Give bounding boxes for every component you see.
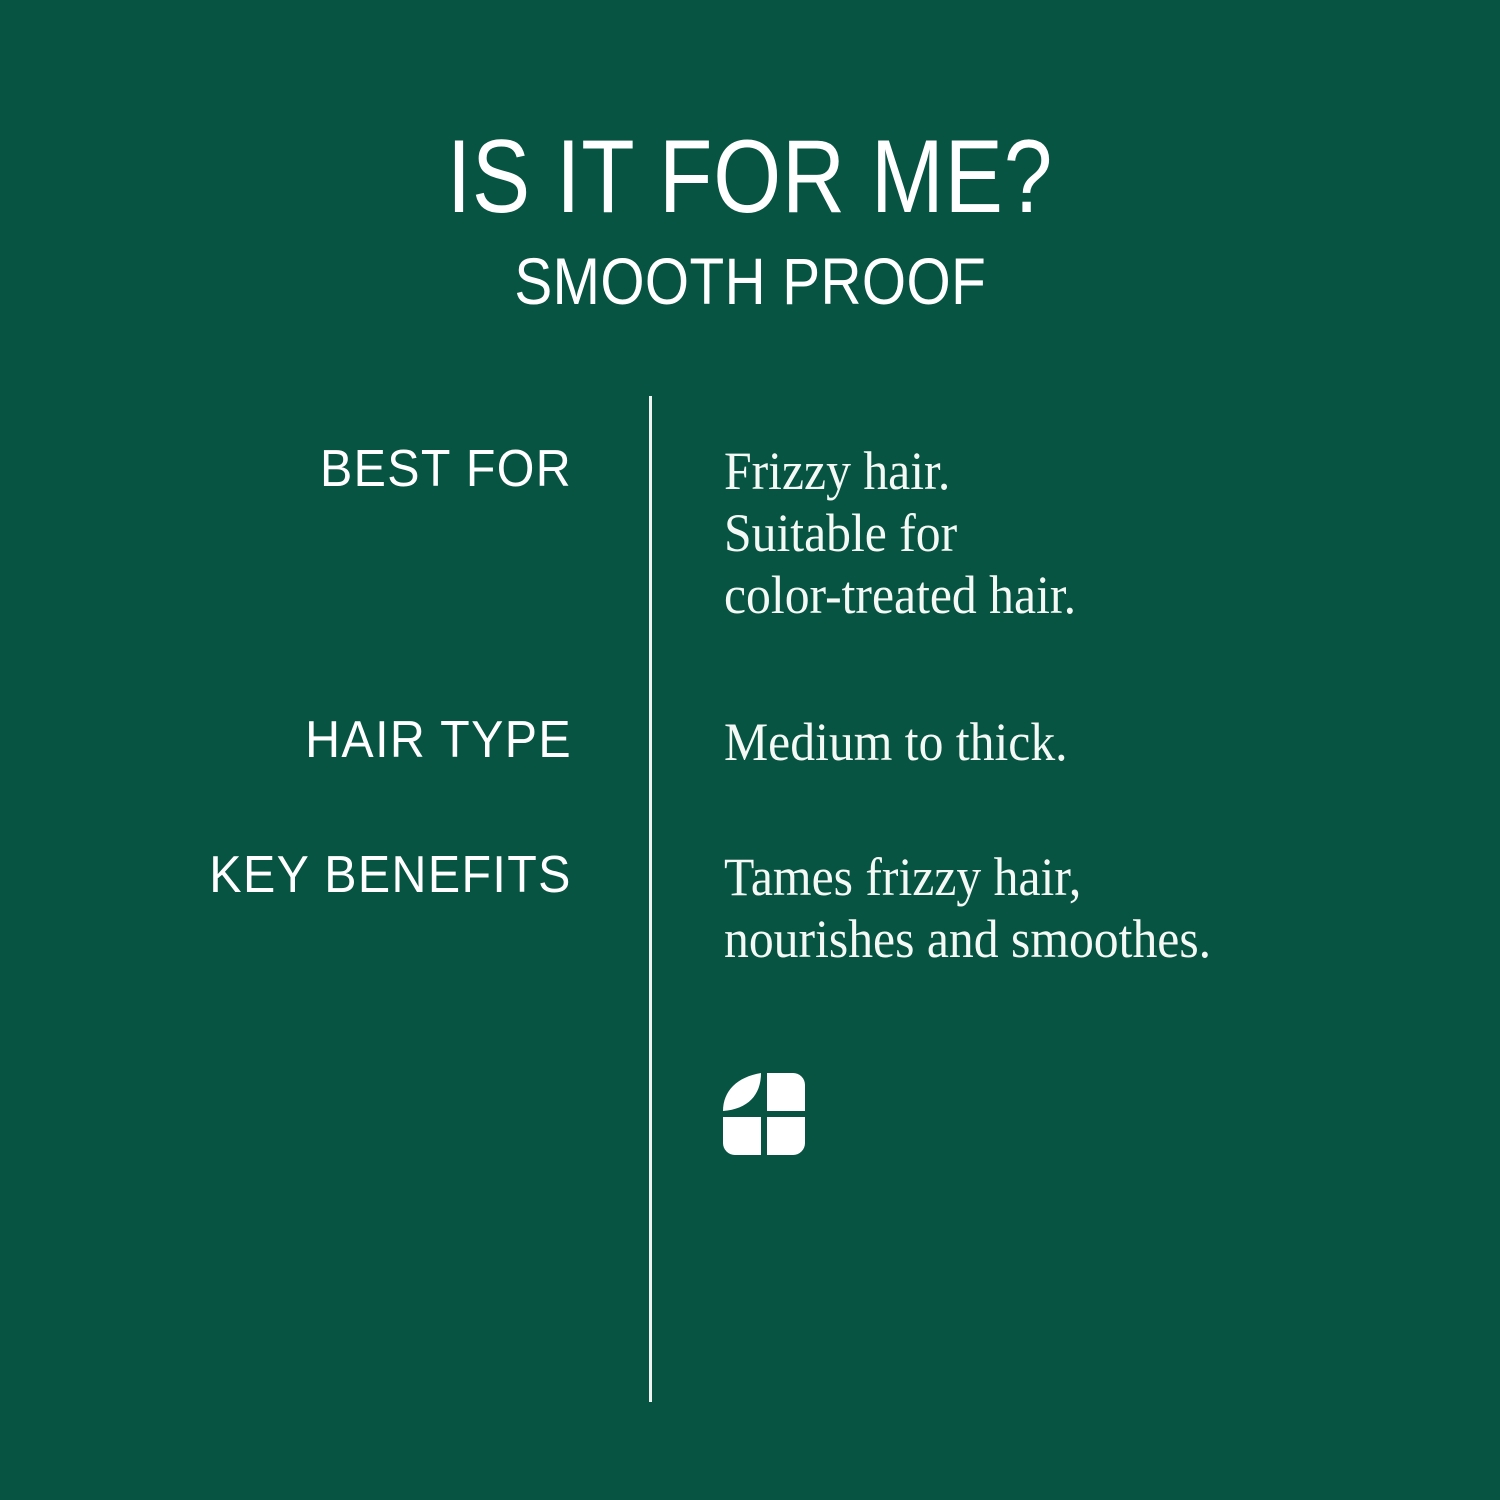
leaf-quadrant-logo-icon [721,1071,807,1161]
spec-label-best-for: BEST FOR [320,441,572,497]
page-subtitle: SMOOTH PROOF [105,245,1395,317]
page-title: IS IT FOR ME? [120,122,1380,232]
spec-value-hair-type: Medium to thick. [724,711,1068,773]
spec-label-key-benefits: KEY BENEFITS [209,847,572,903]
spec-value-best-for: Frizzy hair. Suitable for color-treated … [724,440,1076,626]
product-spec-card: IS IT FOR ME? SMOOTH PROOF BEST FOR Friz… [0,0,1500,1500]
column-divider [649,396,652,1402]
spec-label-hair-type: HAIR TYPE [305,712,572,768]
spec-value-key-benefits: Tames frizzy hair, nourishes and smoothe… [724,846,1211,970]
